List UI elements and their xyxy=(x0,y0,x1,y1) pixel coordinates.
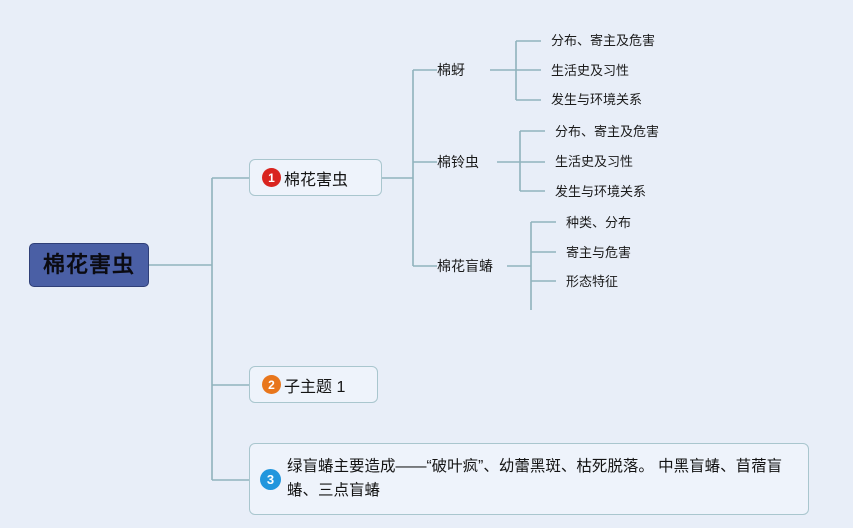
branch-badge-3: 3 xyxy=(260,469,281,490)
subtopic-mianhuamangchun[interactable]: 棉花盲蝽 xyxy=(437,259,493,273)
branch-node-2[interactable]: 2 子主题 1 xyxy=(249,366,378,403)
leaf-mianya-1[interactable]: 分布、寄主及危害 xyxy=(551,34,655,47)
branch-badge-2: 2 xyxy=(262,375,281,394)
branch-badge-1: 1 xyxy=(262,168,281,187)
branch-label-2: 子主题 1 xyxy=(284,373,345,397)
leaf-mianya-3[interactable]: 发生与环境关系 xyxy=(551,93,642,106)
mindmap-canvas: 棉花害虫 1 棉花害虫 棉蚜 棉铃虫 棉花盲蝽 分布、寄主及危害 生活史及习性 … xyxy=(0,0,853,528)
root-node-label: 棉花害虫 xyxy=(43,254,135,276)
subtopic-mianlingchong[interactable]: 棉铃虫 xyxy=(437,155,479,169)
leaf-mianya-2[interactable]: 生活史及习性 xyxy=(551,64,629,77)
branch-node-1[interactable]: 1 棉花害虫 xyxy=(249,159,382,196)
leaf-mianhuamangchun-1[interactable]: 种类、分布 xyxy=(566,216,631,229)
branch-label-3: 绿盲蝽主要造成——“破叶疯”、幼蕾黑斑、枯死脱落。 中黑盲蝽、苜蓿盲蝽、三点盲蝽 xyxy=(287,455,798,503)
leaf-mianlingchong-1[interactable]: 分布、寄主及危害 xyxy=(555,125,659,138)
leaf-mianhuamangchun-3[interactable]: 形态特征 xyxy=(566,275,618,288)
subtopic-mianya[interactable]: 棉蚜 xyxy=(437,63,465,77)
leaf-mianlingchong-3[interactable]: 发生与环境关系 xyxy=(555,185,646,198)
leaf-mianlingchong-2[interactable]: 生活史及习性 xyxy=(555,155,633,168)
root-node[interactable]: 棉花害虫 xyxy=(29,243,149,287)
branch-label-1: 棉花害虫 xyxy=(284,166,348,190)
branch-node-3[interactable]: 3 绿盲蝽主要造成——“破叶疯”、幼蕾黑斑、枯死脱落。 中黑盲蝽、苜蓿盲蝽、三点… xyxy=(249,443,809,515)
leaf-mianhuamangchun-2[interactable]: 寄主与危害 xyxy=(566,246,631,259)
